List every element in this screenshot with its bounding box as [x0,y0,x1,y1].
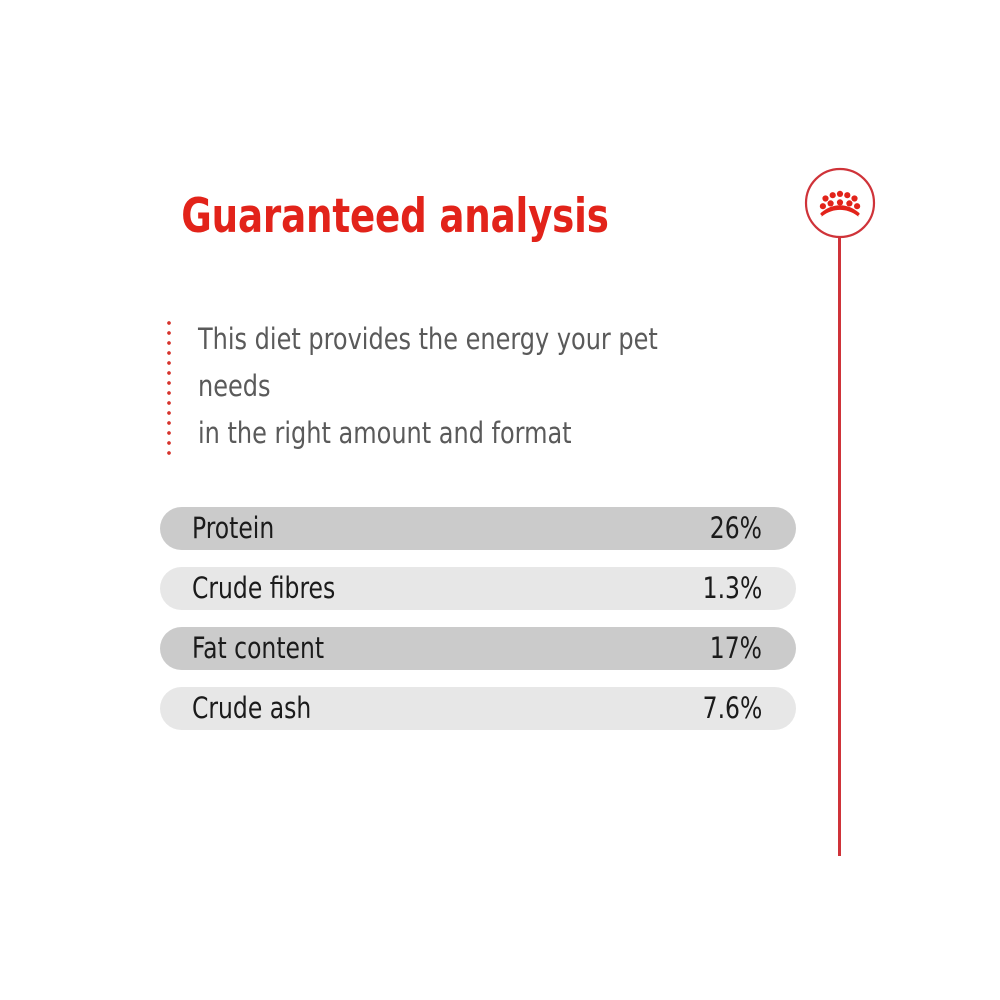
dotted-accent-rule [164,316,174,457]
row-label: Crude fibres [192,574,335,603]
vertical-accent-rule [838,238,841,856]
table-row: Crude fibres 1.3% [160,567,796,610]
row-value: 7.6% [702,694,762,723]
analysis-table: Protein 26% Crude fibres 1.3% Fat conten… [160,507,796,747]
description-text: This diet provides the energy your pet n… [198,316,737,457]
row-value: 1.3% [702,574,762,603]
row-value: 26% [710,514,762,543]
table-row: Crude ash 7.6% [160,687,796,730]
row-value: 17% [710,634,762,663]
page-title: Guaranteed analysis [47,191,742,244]
row-label: Fat content [192,634,324,663]
crown-icon [804,167,876,239]
guaranteed-analysis-panel: Guaranteed analysis This diet provides t… [0,0,1000,1000]
table-row: Protein 26% [160,507,796,550]
table-row: Fat content 17% [160,627,796,670]
description-block: This diet provides the energy your pet n… [164,316,784,457]
row-label: Crude ash [192,694,311,723]
row-label: Protein [192,514,274,543]
